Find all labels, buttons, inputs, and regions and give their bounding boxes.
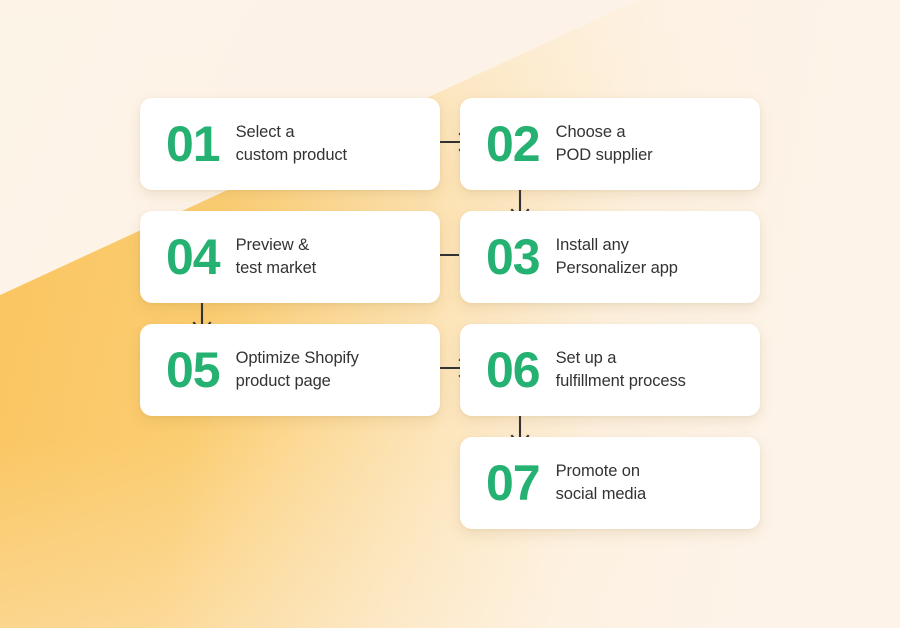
step-label-01: Select a custom product — [236, 121, 347, 168]
step-number-05: 05 — [166, 345, 220, 395]
step-number-07: 07 — [486, 458, 540, 508]
step-label-02: Choose a POD supplier — [556, 121, 653, 168]
step-card-07[interactable]: 07 Promote on social media — [460, 437, 760, 529]
process-flow-diagram: 01 Select a custom product 02 Choose a P… — [0, 0, 900, 628]
step-label-05: Optimize Shopify product page — [236, 347, 359, 394]
step-card-02[interactable]: 02 Choose a POD supplier — [460, 98, 760, 190]
background-sheen-vertical — [0, 0, 900, 628]
step-label-06: Set up a fulfillment process — [556, 347, 686, 394]
step-label-04: Preview & test market — [236, 234, 317, 281]
step-card-06[interactable]: 06 Set up a fulfillment process — [460, 324, 760, 416]
step-number-03: 03 — [486, 232, 540, 282]
step-card-05[interactable]: 05 Optimize Shopify product page — [140, 324, 440, 416]
step-label-07: Promote on social media — [556, 460, 647, 507]
step-label-03: Install any Personalizer app — [556, 234, 678, 281]
step-number-01: 01 — [166, 119, 220, 169]
step-number-02: 02 — [486, 119, 540, 169]
step-number-04: 04 — [166, 232, 220, 282]
step-card-04[interactable]: 04 Preview & test market — [140, 211, 440, 303]
step-number-06: 06 — [486, 345, 540, 395]
step-card-03[interactable]: 03 Install any Personalizer app — [460, 211, 760, 303]
step-card-01[interactable]: 01 Select a custom product — [140, 98, 440, 190]
